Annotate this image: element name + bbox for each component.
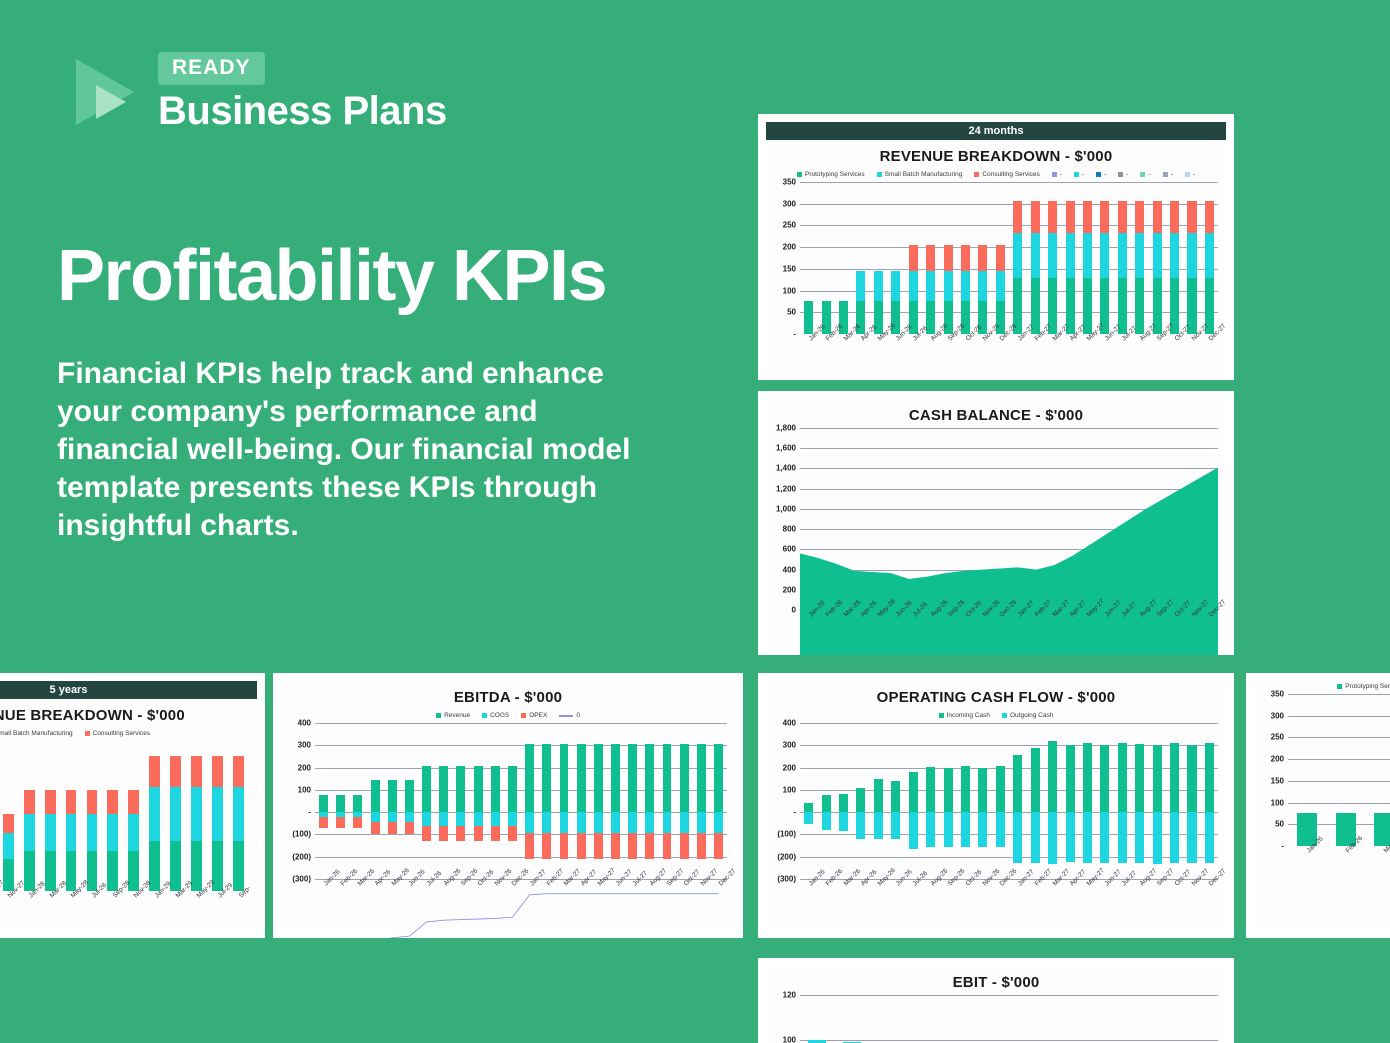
legend-swatch <box>1074 172 1079 177</box>
y-axis-tick: 200 <box>783 243 796 252</box>
x-axis-slot: Feb-27 <box>1026 334 1043 374</box>
y-axis-tick: 250 <box>1271 733 1284 742</box>
grid <box>0 741 249 891</box>
x-axis-slot: Jul-26 <box>905 610 922 650</box>
page-description: Financial KPIs help track and enhance yo… <box>57 355 657 545</box>
x-axis-slot: Sep-27 <box>1148 879 1165 919</box>
bar <box>107 741 118 891</box>
bar-segment <box>891 812 900 839</box>
legend-item: - <box>1074 171 1084 178</box>
x-axis-slot: Mar-26 <box>835 334 852 374</box>
y-axis-tick: 400 <box>783 565 796 574</box>
bar-segment <box>1187 233 1196 279</box>
data-series <box>800 723 1218 879</box>
bar-segment <box>944 768 953 812</box>
bar-group <box>123 741 144 891</box>
legend-label: - <box>1060 171 1062 178</box>
bar-group <box>1061 182 1078 334</box>
legend-swatch <box>1337 684 1342 689</box>
bar-group <box>992 723 1009 879</box>
bar-segment <box>1205 743 1214 813</box>
bar-group <box>61 741 82 891</box>
bar-group <box>800 182 817 334</box>
x-axis: Jan-26Feb-26Mar-26Apr-26May-26Jun-26Jul-… <box>800 879 1218 919</box>
bar-group <box>974 723 991 879</box>
chart-card-ebitda[interactable]: EBITDA - $'000RevenueCOGSOPEX0(300)(200)… <box>273 673 743 938</box>
bar <box>1017 995 1035 1043</box>
x-axis-slot: May-28 <box>61 891 82 931</box>
bar-segment <box>1031 201 1040 233</box>
legend-label: - <box>1126 171 1128 178</box>
bar <box>926 182 935 334</box>
x-axis-slot: Nov-27 <box>1183 610 1200 650</box>
bar-group <box>1079 182 1096 334</box>
x-axis-slot: Feb-27 <box>1026 610 1043 650</box>
y-axis-tick: 250 <box>783 221 796 230</box>
bar <box>874 723 883 879</box>
bar-segment <box>1100 812 1109 863</box>
bar <box>1336 694 1356 846</box>
x-axis-slot: Dec-27 <box>1201 334 1218 374</box>
bar-segment <box>1135 812 1144 863</box>
y-axis-tick: (100) <box>292 830 311 839</box>
bar-segment <box>1100 233 1109 279</box>
bar-group <box>939 723 956 879</box>
y-axis-tick: 1,600 <box>776 444 796 453</box>
bar-segment <box>1135 233 1144 279</box>
bar-segment <box>1048 233 1057 279</box>
plot-area: (300)(200)(100)-100200300400Jan-26Feb-26… <box>766 723 1222 919</box>
legend-item: Consulting Services <box>974 171 1039 178</box>
legend-label: - <box>1082 171 1084 178</box>
plot-area: Mar-27May-27Jul-27Sep-27Nov-27Jan-28Mar-… <box>0 741 253 931</box>
bar-group <box>1009 995 1044 1043</box>
x-axis-slot: Sep-26 <box>452 879 469 919</box>
bar-group <box>1365 694 1390 846</box>
bar-segment <box>1031 233 1040 279</box>
y-axis-tick: 400 <box>298 719 311 728</box>
bar-segment <box>1135 201 1144 233</box>
bar-segment <box>1031 812 1040 863</box>
y-axis-tick: - <box>1281 842 1284 851</box>
bar-segment <box>233 841 244 891</box>
bar-group <box>1148 995 1183 1043</box>
bar <box>45 741 56 891</box>
bar-group <box>102 741 123 891</box>
bar-group <box>1079 995 1114 1043</box>
bar-group <box>852 723 869 879</box>
legend-label: Incoming Cash <box>947 712 990 719</box>
x-axis: Jan-26Feb-26Mar-26Apr-26May-26Jun-26Jul-… <box>315 879 727 919</box>
x-axis-slot: Jun-26 <box>401 879 418 919</box>
bar <box>1187 182 1196 334</box>
bar-group <box>835 182 852 334</box>
bar-segment <box>978 812 987 847</box>
x-axis-slot: Aug-26 <box>922 879 939 919</box>
bar-segment <box>1013 812 1022 863</box>
x-axis-slot: Sep-26 <box>939 879 956 919</box>
bar-group <box>186 741 207 891</box>
data-series <box>1288 694 1390 846</box>
legend-item: Small Batch Manufacturing <box>0 730 73 737</box>
y-axis-tick: 300 <box>783 199 796 208</box>
x-axis-slot: Aug-27 <box>1131 879 1148 919</box>
bar-segment <box>1066 201 1075 233</box>
play-triangle-inner <box>96 85 126 119</box>
x-axis-slot: Oct-26 <box>470 879 487 919</box>
x-axis-slot: Feb-27 <box>1026 879 1043 919</box>
bar-segment <box>1118 812 1127 863</box>
x-axis-slot: Jul-28 <box>82 891 103 931</box>
bar-group <box>870 182 887 334</box>
chart-legend-operating-cash-flow: Incoming CashOutgoing Cash <box>766 710 1226 723</box>
bar <box>1066 723 1075 879</box>
chart-inner: OPERATING CASH FLOW - $'000Incoming Cash… <box>766 681 1226 930</box>
y-axis-tick: (100) <box>777 830 796 839</box>
grid <box>800 428 1218 610</box>
bar <box>1083 182 1092 334</box>
x-axis-slot: Sep-26 <box>939 610 956 650</box>
bar-segment <box>1205 233 1214 279</box>
x-axis-slot: Mar-27 <box>1044 610 1061 650</box>
chart-title: OPERATING CASH FLOW - $'000 <box>766 681 1226 710</box>
legend-label: 0 <box>576 712 580 719</box>
legend-swatch <box>974 172 979 177</box>
y-axis-tick: 1,000 <box>776 504 796 513</box>
bar-segment <box>839 812 848 831</box>
bar-segment <box>1170 812 1179 863</box>
x-axis-slot: Dec-27 <box>1201 879 1218 919</box>
bar-segment <box>996 271 1005 301</box>
x-axis-slot: May-27 <box>590 879 607 919</box>
ready-badge: READY <box>158 52 265 85</box>
chart-inner: EBIT - $'00080100120Jan-27Feb-27Mar-27Ap… <box>766 966 1226 1043</box>
bar <box>1100 723 1109 879</box>
bar-segment <box>1118 233 1127 279</box>
x-axis-slot: Dec-27 <box>1201 610 1218 650</box>
x-axis-slot: Feb-26 <box>817 610 834 650</box>
bar-group <box>1026 182 1043 334</box>
x-axis-slot: Sep-27 <box>1148 610 1165 650</box>
bar <box>856 182 865 334</box>
bar-segment <box>1187 812 1196 863</box>
bar-segment <box>87 790 98 814</box>
bar-group <box>1044 182 1061 334</box>
bar-group <box>800 995 835 1043</box>
bar-group <box>228 741 249 891</box>
bar <box>87 741 98 891</box>
x-axis-slot: Nov-27 <box>1183 879 1200 919</box>
bar <box>233 741 244 891</box>
bar-segment <box>149 756 160 787</box>
bar-group <box>0 741 19 891</box>
bar-group <box>1114 723 1131 879</box>
bar-segment <box>87 814 98 852</box>
chart-inner: 5 yearsREVENUE BREAKDOWN - $'000Small Ba… <box>0 681 257 930</box>
bar-segment <box>996 766 1005 812</box>
bar-segment <box>961 271 970 301</box>
y-axis-tick: 200 <box>1271 755 1284 764</box>
x-axis-slot: Jun-26 <box>887 879 904 919</box>
bar-segment <box>804 301 813 334</box>
x-axis-slot: Feb-26 <box>817 879 834 919</box>
chart-title: CASH BALANCE - $'000 <box>766 399 1226 428</box>
bar-segment <box>1100 745 1109 812</box>
x-axis-slot: Jul-27 <box>1114 334 1131 374</box>
x-axis-slot: Jan-26 <box>315 879 332 919</box>
bar-segment <box>961 766 970 812</box>
bar-segment <box>1066 745 1075 812</box>
bar-segment <box>909 245 918 271</box>
y-axis-tick: 100 <box>1271 798 1284 807</box>
x-axis-slot: Sep-26 <box>939 334 956 374</box>
chart-card-revenue-breakdown-edge[interactable]: Prototyping Services-5010015020025030035… <box>1246 673 1390 938</box>
bar-group <box>1131 723 1148 879</box>
bar <box>926 723 935 879</box>
x-axis-slot: Apr-26 <box>852 879 869 919</box>
bar-segment <box>856 812 865 839</box>
x-axis-slot: Nov-28 <box>123 891 144 931</box>
bar-segment <box>66 814 77 852</box>
x-axis-slot: Jan-27 <box>1009 610 1026 650</box>
x-axis-slot: Jul-26 <box>418 879 435 919</box>
bar <box>961 182 970 334</box>
plot-area: -50100150200250300350Jan-26Feb-26Mar-26A… <box>1254 694 1390 886</box>
y-axis-tick: 100 <box>783 1036 796 1043</box>
bar <box>66 741 77 891</box>
x-axis-slot: Apr-26 <box>852 610 869 650</box>
bar-segment <box>822 812 831 829</box>
x-axis-slot: Jan-26 <box>1288 846 1326 886</box>
x-axis-slot: Jan-27 <box>1009 334 1026 374</box>
x-axis-slot: Mar-26 <box>835 879 852 919</box>
bar <box>978 723 987 879</box>
bar-segment <box>856 788 865 812</box>
bar <box>1170 182 1179 334</box>
bar-segment <box>1031 748 1040 813</box>
brand-name: Business Plans <box>158 90 447 132</box>
x-axis-slot: Apr-27 <box>1061 610 1078 650</box>
bar-group <box>887 723 904 879</box>
legend-swatch <box>1163 172 1168 177</box>
bar <box>1122 995 1140 1043</box>
bar-group <box>957 723 974 879</box>
bar-segment <box>1187 201 1196 233</box>
bar-segment <box>1170 743 1179 813</box>
bar-segment <box>856 271 865 301</box>
legend-item: - <box>1096 171 1106 178</box>
x-axis-slot: Aug-27 <box>1131 610 1148 650</box>
x-axis-slot: Oct-27 <box>1166 879 1183 919</box>
x-axis: Jan-26Feb-26Mar-26Apr-26May-26Jun-26Jul-… <box>800 610 1218 650</box>
bar-segment <box>1170 233 1179 279</box>
bar-group <box>1096 723 1113 879</box>
x-axis-slot: Dec-26 <box>992 610 1009 650</box>
bar-group <box>887 182 904 334</box>
bar-group <box>1166 723 1183 879</box>
plot-area: (300)(200)(100)-100200300400Jan-26Feb-26… <box>281 723 731 919</box>
bar <box>1135 182 1144 334</box>
bar-group <box>1096 182 1113 334</box>
bar-segment <box>839 794 848 812</box>
y-axis-tick: 200 <box>783 585 796 594</box>
y-axis-tick: (200) <box>292 852 311 861</box>
bar-segment <box>191 787 202 841</box>
bar-group <box>1183 995 1218 1043</box>
bar <box>24 741 35 891</box>
bar-segment <box>822 795 831 812</box>
chart-card-revenue-breakdown-24m[interactable]: 24 monthsREVENUE BREAKDOWN - $'000Protot… <box>758 114 1234 380</box>
x-axis-slot: May-26 <box>870 610 887 650</box>
x-axis: Jan-26Feb-26Mar-26Apr-26May-26Jun-26Jul-… <box>800 334 1218 374</box>
bar-group <box>1201 723 1218 879</box>
legend-item: - <box>1118 171 1128 178</box>
chart-card-cash-balance[interactable]: CASH BALANCE - $'00002004006008001,0001,… <box>758 391 1234 655</box>
legend-label: Outgoing Cash <box>1010 712 1053 719</box>
y-axis-tick: 0 <box>792 606 796 615</box>
grid <box>1288 694 1390 846</box>
bar-group <box>905 182 922 334</box>
bar-segment <box>107 851 118 891</box>
x-axis-slot: Apr-27 <box>1061 334 1078 374</box>
bar-segment <box>1083 812 1092 863</box>
plot-area: 02004006008001,0001,2001,4001,6001,800Ja… <box>766 428 1222 650</box>
bar-segment <box>107 814 118 852</box>
bar-segment <box>891 271 900 301</box>
x-axis-slot: Jan-26 <box>800 334 817 374</box>
legend-item: COGS <box>482 712 509 719</box>
x-axis-slot: Jul-27 <box>1114 610 1131 650</box>
x-axis-slot: May-27 <box>1079 610 1096 650</box>
bar <box>1031 723 1040 879</box>
bar-group <box>1131 182 1148 334</box>
bar-segment <box>191 756 202 787</box>
bar-group <box>1009 182 1026 334</box>
bar-segment <box>1170 201 1179 233</box>
x-axis-slot: Sep-27 <box>1148 334 1165 374</box>
y-axis-tick: (300) <box>777 875 796 884</box>
legend-swatch <box>1140 172 1145 177</box>
chart-card-operating-cash-flow[interactable]: OPERATING CASH FLOW - $'000Incoming Cash… <box>758 673 1234 938</box>
legend-swatch <box>1002 713 1007 718</box>
y-axis-tick: 1,200 <box>776 484 796 493</box>
y-axis-tick: 100 <box>783 785 796 794</box>
x-axis-slot: Jul-26 <box>905 879 922 919</box>
x-axis-slot: Jul-27 <box>624 879 641 919</box>
bar-segment <box>45 814 56 852</box>
bar-group <box>1166 182 1183 334</box>
bar-segment <box>1066 812 1075 862</box>
bar-segment <box>1118 201 1127 233</box>
x-axis-slot: Dec-27 <box>710 879 727 919</box>
bar-segment <box>1083 233 1092 279</box>
x-axis-slot: Mar-27 <box>555 879 572 919</box>
bar-segment <box>1048 741 1057 812</box>
y-axis-tick: 350 <box>1271 690 1284 699</box>
legend-label: Consulting Services <box>982 171 1039 178</box>
bar <box>913 995 931 1043</box>
bar-group <box>144 741 165 891</box>
bar-segment <box>1100 201 1109 233</box>
chart-card-revenue-breakdown-5y[interactable]: 5 yearsREVENUE BREAKDOWN - $'000Small Ba… <box>0 673 265 938</box>
bar <box>1100 182 1109 334</box>
chart-card-ebit[interactable]: EBIT - $'00080100120Jan-27Feb-27Mar-27Ap… <box>758 958 1234 1043</box>
bar-group <box>835 995 870 1043</box>
legend-label: Revenue <box>444 712 470 719</box>
bar-group <box>904 995 939 1043</box>
x-axis-slot: Aug-26 <box>922 610 939 650</box>
bar-segment <box>909 812 918 849</box>
bar <box>808 995 826 1043</box>
x-axis-slot: Nov-26 <box>974 879 991 919</box>
bar-group <box>1148 182 1165 334</box>
play-triangle-icon <box>70 57 142 127</box>
y-axis-tick: 600 <box>783 545 796 554</box>
x-axis-slot: Oct-26 <box>957 879 974 919</box>
legend-line-swatch <box>559 715 573 717</box>
x-axis-slot: Feb-26 <box>1326 846 1364 886</box>
y-axis: -50100150200250300350 <box>1254 694 1288 846</box>
bar <box>996 723 1005 879</box>
bar <box>874 182 883 334</box>
bar-segment <box>1048 201 1057 233</box>
legend-label: - <box>1148 171 1150 178</box>
bar-segment <box>944 271 953 301</box>
bar-segment <box>1135 278 1144 334</box>
x-axis-slot: Nov-27 <box>693 879 710 919</box>
bar-segment <box>45 790 56 814</box>
y-axis: -50100150200250300350 <box>766 182 800 334</box>
y-axis-tick: 400 <box>783 719 796 728</box>
bar-segment <box>212 756 223 787</box>
bar <box>1118 182 1127 334</box>
bar-group <box>852 182 869 334</box>
bar <box>839 182 848 334</box>
x-axis-slot: Nov-27 <box>1183 334 1200 374</box>
bar <box>149 741 160 891</box>
bar <box>878 995 896 1043</box>
legend-item: Prototyping Services <box>797 171 865 178</box>
x-axis-slot: May-29 <box>186 891 207 931</box>
bar <box>996 182 1005 334</box>
bar-segment <box>3 833 14 859</box>
bar-segment <box>233 787 244 841</box>
y-axis-tick: 150 <box>783 264 796 273</box>
bar-segment <box>874 271 883 301</box>
bar-group <box>1201 182 1218 334</box>
y-axis: (300)(200)(100)-100200300400 <box>766 723 800 879</box>
legend-label: Small Batch Manufacturing <box>885 171 963 178</box>
bar <box>170 741 181 891</box>
bar <box>1066 182 1075 334</box>
bar-segment <box>24 790 35 814</box>
x-axis-slot: Apr-27 <box>1061 879 1078 919</box>
page-title: Profitability KPIs <box>57 240 606 312</box>
bar <box>1013 723 1022 879</box>
bar-segment <box>891 781 900 812</box>
chart-title: EBIT - $'000 <box>766 966 1226 995</box>
x-axis-slot: Feb-27 <box>538 879 555 919</box>
y-axis-tick: (300) <box>292 875 311 884</box>
bar-group <box>817 182 834 334</box>
chart-inner: CASH BALANCE - $'00002004006008001,0001,… <box>766 399 1226 647</box>
bar-segment <box>978 768 987 813</box>
x-axis-slot: Nov-27 <box>0 891 19 931</box>
x-axis-slot: Dec-26 <box>992 334 1009 374</box>
y-axis-tick: (200) <box>777 852 796 861</box>
bar <box>128 741 139 891</box>
y-axis-tick: 50 <box>787 308 796 317</box>
